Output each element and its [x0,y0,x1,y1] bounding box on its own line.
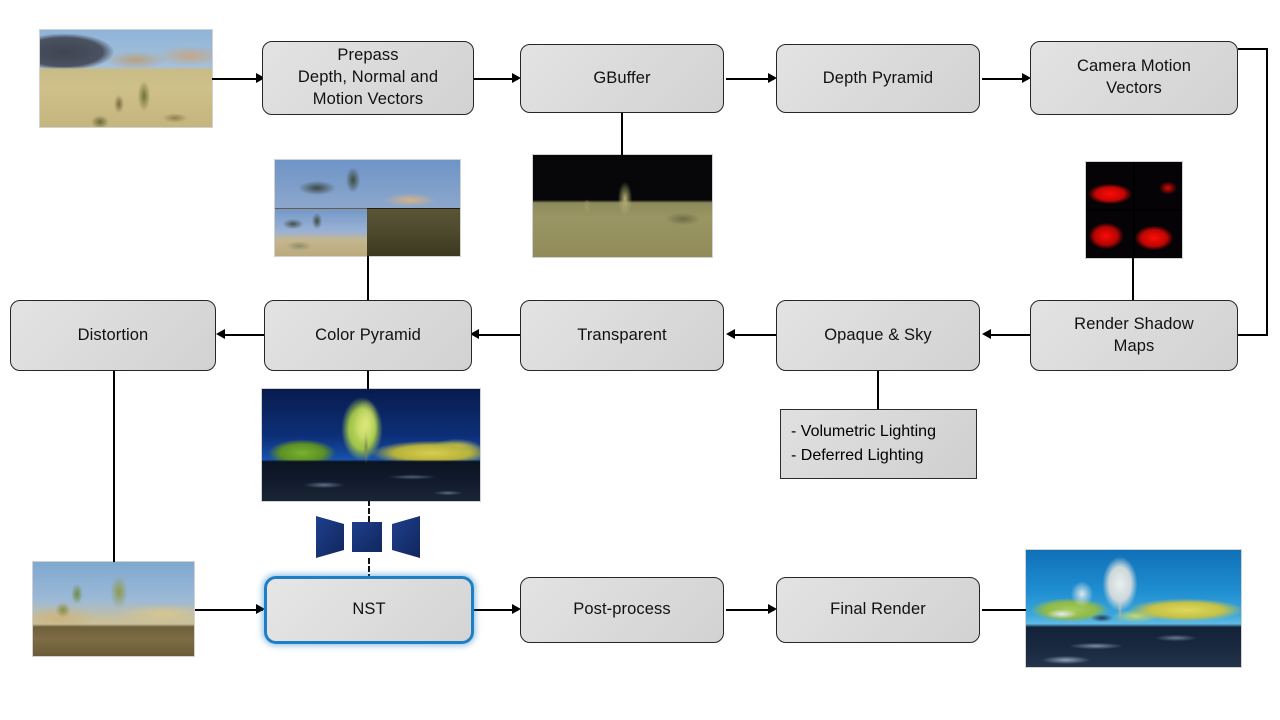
edge-mips-to-color-pyramid [367,256,369,300]
edge-camera-motion-elbow-top [1238,48,1268,50]
node-render-shadow-maps-label: Render Shadow Maps [1074,314,1194,358]
node-opaque-and-sky-label: Opaque & Sky [824,325,932,347]
prepass-line-3: Motion Vectors [313,90,424,108]
node-distortion[interactable]: Distortion [10,300,216,371]
stylized-frame-thumbnail [262,389,480,501]
edge-distorted-thumb-to-nst [195,609,263,611]
encoder-decoder-network-icon [314,514,422,560]
edge-final-render-to-thumb [982,609,1026,611]
node-post-process[interactable]: Post-process [520,577,724,643]
lighting-note-box[interactable]: - Volumetric Lighting - Deferred Lightin… [780,409,977,479]
edge-shadow-atlas-to-node [1132,258,1134,300]
lighting-note-item-deferred: - Deferred Lighting [791,444,966,468]
camera-motion-line-1: Camera Motion [1077,57,1191,75]
edge-color-pyramid-to-stylized [367,371,369,389]
node-camera-motion-vectors[interactable]: Camera Motion Vectors [1030,41,1238,115]
node-final-render-label: Final Render [830,599,926,621]
prepass-line-2: Depth, Normal and [298,68,438,86]
final-render-thumbnail [1026,550,1241,667]
camera-motion-line-2: Vectors [1106,79,1162,97]
edge-gbuffer-to-buffer-thumb [621,113,623,155]
mip-level-1-detail [275,208,367,256]
distorted-frame-thumbnail [33,562,194,656]
gbuffer-thumbnail [533,155,712,257]
arrow-shadow-maps-to-opaque [982,329,991,339]
shadow-atlas-split [1086,162,1182,258]
node-color-pyramid[interactable]: Color Pyramid [264,300,472,371]
edge-transparent-to-color-pyramid [478,334,520,336]
edge-shadow-maps-to-opaque [990,334,1032,336]
node-distortion-label: Distortion [78,325,149,347]
distorted-foreground [33,562,194,656]
node-prepass-label: Prepass Depth, Normal and Motion Vectors [298,45,438,110]
prepass-line-1: Prepass [337,46,398,64]
lighting-note-item-volumetric: - Volumetric Lighting [791,420,966,444]
node-post-process-label: Post-process [573,599,671,621]
edge-gbuffer-to-depth-pyramid [726,78,774,80]
shadow-map-atlas-thumbnail [1086,162,1182,258]
edge-opaque-to-lighting-note [877,371,879,409]
edge-input-to-prepass [212,78,260,80]
bottleneck-block [352,522,382,552]
edge-opaque-to-transparent [734,334,776,336]
edge-camera-motion-elbow-right [1266,48,1268,335]
encoder-trapezoid [316,516,344,558]
gbuffer-foliage [533,155,712,257]
node-nst[interactable]: NST [264,576,474,644]
edge-camera-motion-elbow-bottom [1236,334,1268,336]
arrow-color-pyramid-to-distortion [216,329,225,339]
node-depth-pyramid-label: Depth Pyramid [823,68,933,90]
mip-level-2 [367,208,460,256]
edge-color-pyramid-to-distortion [224,334,266,336]
edge-distortion-to-distorted-thumb [113,371,115,562]
node-gbuffer-label: GBuffer [593,68,650,90]
node-opaque-and-sky[interactable]: Opaque & Sky [776,300,980,371]
node-depth-pyramid[interactable]: Depth Pyramid [776,44,980,113]
node-final-render[interactable]: Final Render [776,577,980,643]
node-color-pyramid-label: Color Pyramid [315,325,421,347]
arrow-opaque-to-transparent [726,329,735,339]
node-transparent[interactable]: Transparent [520,300,724,371]
decoder-trapezoid [392,516,420,558]
stylized-tree [262,389,480,501]
color-pyramid-mip-thumbnail [275,160,460,256]
final-ground-detail [1026,550,1241,667]
node-prepass[interactable]: Prepass Depth, Normal and Motion Vectors [262,41,474,115]
input-frame-thumbnail [40,30,212,127]
shadow-maps-line-2: Maps [1114,337,1155,355]
node-render-shadow-maps[interactable]: Render Shadow Maps [1030,300,1238,371]
shadow-maps-line-1: Render Shadow [1074,315,1194,333]
node-transparent-label: Transparent [577,325,666,347]
pipeline-diagram-canvas: Prepass Depth, Normal and Motion Vectors… [0,0,1280,720]
node-gbuffer[interactable]: GBuffer [520,44,724,113]
node-nst-label: NST [352,599,385,621]
edge-post-process-to-final-render [726,609,774,611]
node-camera-motion-vectors-label: Camera Motion Vectors [1077,56,1191,100]
thumb-foliage [40,30,212,127]
